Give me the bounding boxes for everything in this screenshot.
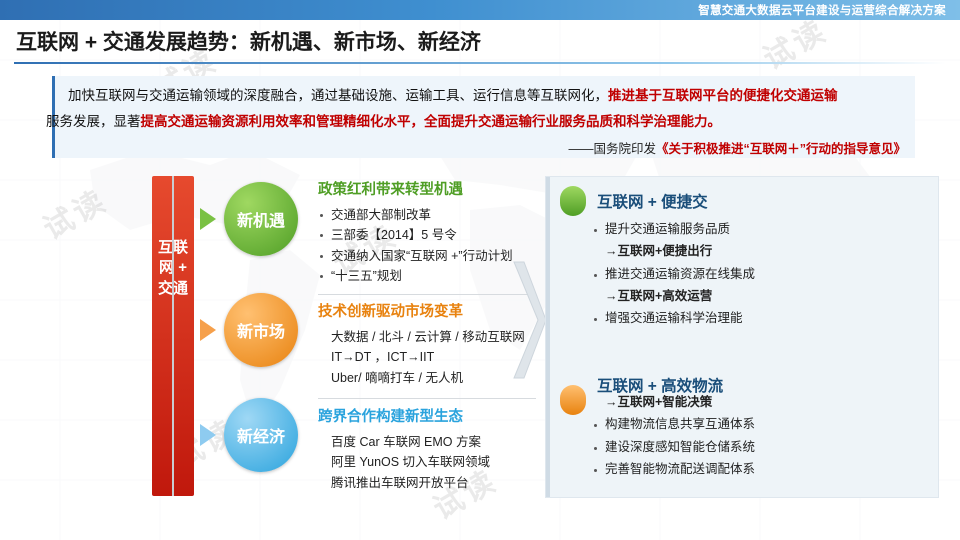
list-item-emph: →互联网+便捷出行 [592,240,932,262]
panel-edge [546,177,550,497]
quote-line-2-plain: 服务发展，显著 [46,114,141,129]
group-list: 百度 Car 车联网 EMO 方案 阿里 YunOS 切入车联网领域 腾讯推出车… [318,432,536,493]
list-item: 阿里 YunOS 切入车联网领域 [318,452,536,472]
right-heading-1: 互联网 + 便捷交 [597,190,708,212]
quote-source: ——国务院印发《关于积极推进“互联网＋”行动的指导意见》 [568,138,906,157]
group-new-economy: 跨界合作构建新型生态 百度 Car 车联网 EMO 方案 阿里 YunOS 切入… [318,405,536,493]
bullet-pill-orange [560,385,586,415]
list-item: 交通部大部制改革 [318,205,536,225]
list-item: 完善智能物流配送调配体系 [592,458,932,480]
list-item: 构建物流信息共享互通体系 [592,413,932,435]
quote-line-1-plain: 加快互联网与交通运输领域的深度融合，通过基础设施、运输工具、运行信息等互联网化， [68,88,608,103]
list-item-emph: →互联网+智能决策 [592,391,932,413]
list-item: Uber/ 嘀嘀打车 / 无人机 [318,368,536,388]
arrow-icon-orange [200,319,216,341]
list-item: 交通纳入国家“互联网 +”行动计划 [318,246,536,266]
list-item: 大数据 / 北斗 / 云计算 / 移动互联网 [318,327,536,347]
circle-label: 新市场 [237,318,285,342]
circle-new-opportunity[interactable]: 新机遇 [224,182,298,256]
list-item: “十三五”规划 [318,266,536,286]
list-item: 提升交通运输服务品质 [592,218,932,240]
group-heading: 技术创新驱动市场变革 [318,300,536,321]
group-new-market: 技术创新驱动市场变革 大数据 / 北斗 / 云计算 / 移动互联网 IT→DT … [318,300,536,388]
group-list: 大数据 / 北斗 / 云计算 / 移动互联网 IT→DT ，ICT→IIT Ub… [318,327,536,388]
list-item: 推进交通运输资源在线集成 [592,263,932,285]
circle-label: 新经济 [237,423,285,447]
vertical-divider [172,176,174,496]
list-item-emph: →互联网+高效运营 [592,285,932,307]
right-list-1: 提升交通运输服务品质 →互联网+便捷出行 推进交通运输资源在线集成 →互联网+高… [592,218,932,329]
list-item: 百度 Car 车联网 EMO 方案 [318,432,536,452]
group-list: 交通部大部制改革 三部委【2014】5 号令 交通纳入国家“互联网 +”行动计划… [318,205,536,286]
page-title: 互联网 + 交通发展趋势：新机遇、新市场、新经济 [16,26,481,56]
list-item: 三部委【2014】5 号令 [318,225,536,245]
circle-new-market[interactable]: 新市场 [224,293,298,367]
group-heading: 政策红利带来转型机遇 [318,178,536,199]
slide: 试读 试读 试读 试读 试读 试读 试读 试读 试读 智慧交通大数据云平台建设与… [0,0,960,540]
group-separator [318,398,536,399]
group-heading: 跨界合作构建新型生态 [318,405,536,426]
brand-title: 智慧交通大数据云平台建设与运营综合解决方案 [698,2,946,18]
title-divider [14,62,946,64]
quote-line-2: 服务发展，显著提高交通运输资源利用效率和管理精细化水平，全面提升交通运输行业服务… [46,112,906,133]
circle-label: 新机遇 [237,207,285,231]
circle-new-economy[interactable]: 新经济 [224,398,298,472]
quote-source-prefix: ——国务院印发 [568,142,656,156]
arrow-icon-green [200,208,216,230]
list-item: IT→DT ，ICT→IIT [318,347,536,367]
list-item: 腾讯推出车联网开放平台 [318,473,536,493]
quote-line-1-emph: 推进基于互联网平台的便捷化交通运输 [608,88,838,103]
chevron-icon [512,260,546,380]
list-item: 增强交通运输科学治理能 [592,307,932,329]
group-separator [318,294,536,295]
list-item: 建设深度感知智能仓储系统 [592,436,932,458]
bullet-pill-green [560,186,586,216]
right-list-2: →互联网+智能决策 构建物流信息共享互通体系 建设深度感知智能仓储系统 完善智能… [592,391,932,480]
group-new-opportunity: 政策红利带来转型机遇 交通部大部制改革 三部委【2014】5 号令 交通纳入国家… [318,178,536,286]
arrow-icon-blue [200,424,216,446]
quote-line-1: 加快互联网与交通运输领域的深度融合，通过基础设施、运输工具、运行信息等互联网化，… [68,86,904,107]
quote-line-2-emph: 提高交通运输资源利用效率和管理精细化水平，全面提升交通运输行业服务品质和科学治理… [141,114,722,129]
quote-source-doc: 《关于积极推进“互联网＋”行动的指导意见》 [656,142,906,156]
